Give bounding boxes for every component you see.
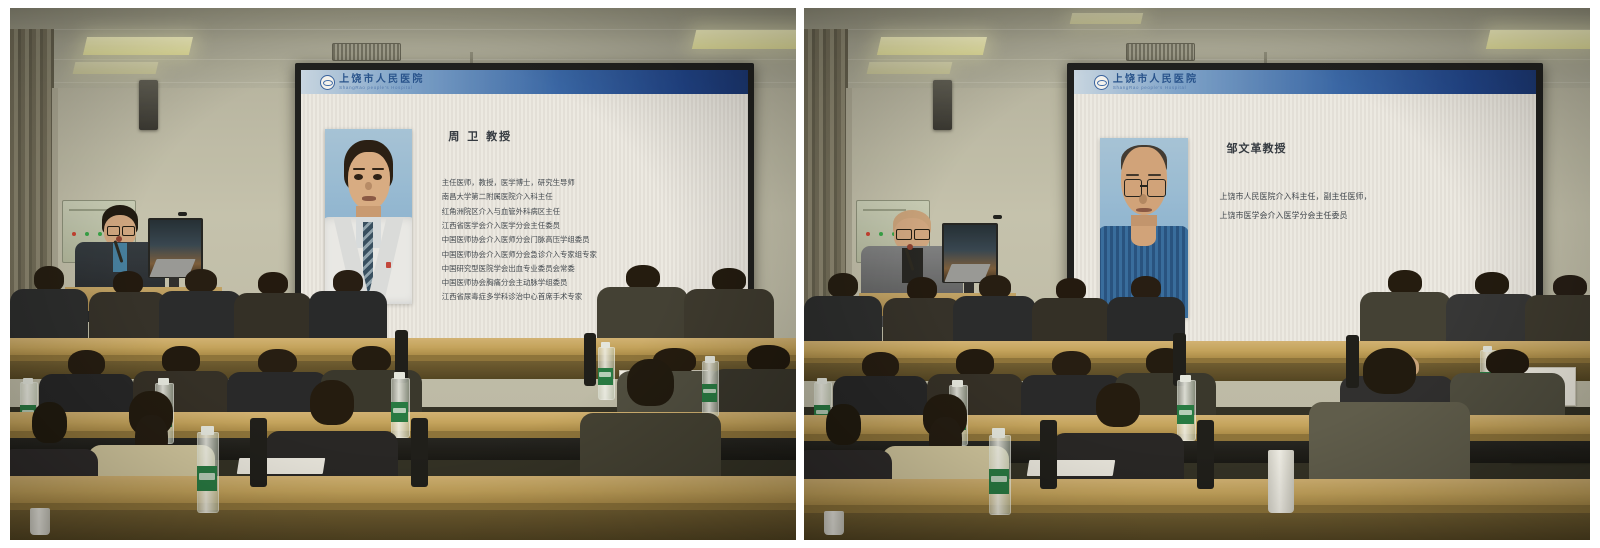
hospital-logo-text: 上饶市人民医院 ShangRao people's Hospital xyxy=(1113,75,1198,90)
desk-riser xyxy=(804,513,1590,540)
person-shoulders xyxy=(1032,298,1110,343)
wall-speaker xyxy=(933,80,952,131)
person-head xyxy=(258,349,297,376)
ceiling-light-panel xyxy=(877,37,987,55)
audience-person xyxy=(317,270,380,338)
portrait-mouth xyxy=(362,196,376,201)
lecture-hall-photo-left: 上饶市人民医院 ShangRao people's Hospital xyxy=(10,8,796,540)
audience-person xyxy=(812,273,875,343)
person-head xyxy=(68,350,105,377)
portrait-mouth xyxy=(1136,208,1152,212)
person-shoulders xyxy=(1525,295,1590,343)
slide-bullet: 主任医师，教授，医学博士，研究生导师 xyxy=(442,177,597,188)
ceiling-grid-line xyxy=(10,59,796,60)
hospital-name-en: ShangRao people's Hospital xyxy=(339,86,424,90)
water-bottle xyxy=(989,428,1009,513)
water-bottle xyxy=(391,372,408,436)
audience-person xyxy=(961,275,1028,343)
audience-person xyxy=(607,265,678,338)
audience-person xyxy=(1370,270,1441,343)
audience-desk-front xyxy=(10,476,796,503)
indicator-led xyxy=(72,232,76,236)
ceiling-grid-line xyxy=(10,29,796,30)
hospital-logo: 上饶市人民医院 ShangRao people's Hospital xyxy=(1094,75,1198,90)
person-shoulders xyxy=(234,293,312,338)
person-head xyxy=(34,266,64,292)
lecture-hall-photo-right: 上饶市人民医院 ShangRao people's Hospital xyxy=(804,8,1590,540)
person-head xyxy=(258,272,288,295)
audience-person xyxy=(1456,272,1527,343)
hospital-logo-text: 上饶市人民医院 ShangRao people's Hospital xyxy=(339,75,424,90)
bottle-label xyxy=(1177,405,1194,424)
audience-person xyxy=(242,272,305,338)
person-head xyxy=(1475,272,1509,296)
person-shoulders xyxy=(159,291,242,338)
slide-bullet-list: 上饶市人民医院介入科主任，副主任医师， 上饶市医学会介入医学分会主任委员 xyxy=(1220,191,1372,221)
hospital-logo: 上饶市人民医院 ShangRao people's Hospital xyxy=(320,75,424,90)
person-shoulders xyxy=(597,287,688,338)
portrait-collar-opening xyxy=(1131,226,1156,246)
bottle-label xyxy=(989,469,1009,494)
person-head xyxy=(626,265,660,290)
slide-bullet: 中国医师协会介入医师分会急诊介入专家组专家 xyxy=(442,249,597,260)
portrait-brow xyxy=(353,168,365,170)
person-head xyxy=(826,404,861,445)
person-shoulders xyxy=(1446,294,1537,344)
slide-bullet: 上饶市医学会介入医学分会主任委员 xyxy=(1220,210,1372,221)
person-head xyxy=(32,402,67,443)
person-shoulders xyxy=(89,292,167,338)
person-head xyxy=(162,346,199,374)
portrait-brow xyxy=(1126,174,1139,176)
person-head xyxy=(862,352,899,379)
hospital-name-cn: 上饶市人民医院 xyxy=(1113,75,1198,85)
slide-bullet: 中国医师协会介入医师分会门脉高压学组委员 xyxy=(442,234,597,245)
hospital-name-cn: 上饶市人民医院 xyxy=(339,75,424,85)
seat-armrest xyxy=(1197,420,1214,489)
portrait-eye xyxy=(373,174,382,180)
bottle-label xyxy=(391,402,408,421)
paper-cup xyxy=(30,508,50,535)
person-shoulders xyxy=(953,296,1036,343)
person-head xyxy=(1096,383,1140,427)
water-bottle xyxy=(197,426,217,511)
ceiling-grid-line xyxy=(804,29,1590,30)
audience-person xyxy=(1040,278,1103,343)
audience-person xyxy=(96,271,159,338)
microphone-foam-icon xyxy=(907,244,913,250)
person-shoulders xyxy=(1360,292,1451,343)
portrait-brow xyxy=(372,168,384,170)
slide-speaker-name: 周 卫 教授 xyxy=(448,128,512,144)
person-head xyxy=(828,273,858,298)
slide-bullet: 南昌大学第二附属医院介入科主任 xyxy=(442,191,597,202)
person-shoulders xyxy=(309,291,387,338)
audience-person xyxy=(18,266,81,337)
audience-person xyxy=(1114,276,1177,343)
audience-person xyxy=(1535,275,1590,344)
hospital-name-en: ShangRao people's Hospital xyxy=(1113,86,1198,90)
desk-edge xyxy=(10,503,796,510)
portrait-brow xyxy=(1148,174,1161,176)
seat-armrest xyxy=(411,418,428,487)
ceiling-light-panel xyxy=(83,37,193,55)
wall-speaker xyxy=(139,80,158,131)
ceiling-light-panel xyxy=(867,62,952,74)
audience-person xyxy=(725,345,796,423)
bottle-cap xyxy=(394,372,405,379)
ceiling-light-panel xyxy=(692,30,796,49)
person-head xyxy=(185,269,217,293)
thermos-cup xyxy=(1268,450,1295,514)
person-shoulders xyxy=(883,298,961,343)
person-head xyxy=(1486,349,1529,376)
portrait-glasses-bridge xyxy=(1140,185,1147,187)
webcam-icon xyxy=(178,212,187,216)
bottle-cap xyxy=(992,428,1005,437)
hospital-emblem-icon xyxy=(1094,75,1109,90)
bottle-cap xyxy=(201,426,214,435)
audience-person xyxy=(890,277,953,343)
ceiling-light-panel xyxy=(1486,30,1590,49)
person-shoulders xyxy=(684,289,775,338)
water-bottle xyxy=(1177,375,1194,439)
person-head xyxy=(352,346,391,374)
audience-row-back xyxy=(804,269,1590,343)
bottle-cap xyxy=(1180,375,1191,382)
portrait-eye xyxy=(354,174,363,180)
ceiling-grid-line xyxy=(804,59,1590,60)
seat-armrest xyxy=(250,418,267,487)
slide-bullet: 江西省医学会介入医学分会主任委员 xyxy=(442,220,597,231)
bottle-cap xyxy=(952,380,963,387)
slide-bullet: 红角洲院区介入与血管外科病区主任 xyxy=(442,206,597,217)
ceiling-vent-icon xyxy=(332,43,401,61)
audience-person xyxy=(167,269,234,338)
photo-pair-sheet: 上饶市人民医院 ShangRao people's Hospital xyxy=(0,0,1600,548)
slide-speaker-name: 邹文革教授 xyxy=(1226,140,1286,156)
person-head xyxy=(627,359,674,406)
bottle-cap xyxy=(158,378,169,385)
audience-person xyxy=(694,268,765,338)
portrait-glasses-icon xyxy=(1147,179,1166,197)
ceiling-light-panel xyxy=(73,62,158,74)
hospital-emblem-icon xyxy=(320,75,335,90)
audience-row-back xyxy=(10,263,796,337)
presenter-glasses-icon xyxy=(914,229,929,240)
slide-bullet: 上饶市人民医院介入科主任，副主任医师， xyxy=(1220,191,1372,202)
seat-armrest xyxy=(1040,420,1057,489)
person-head xyxy=(310,380,354,425)
presenter-glasses-icon xyxy=(122,226,135,236)
ceiling-vent-icon xyxy=(1126,43,1195,61)
person-head xyxy=(1052,351,1091,378)
bottle-label xyxy=(197,466,217,491)
indicator-led xyxy=(866,232,870,236)
person-head xyxy=(956,349,993,377)
presenter-glasses-icon xyxy=(107,226,120,236)
person-head xyxy=(1363,348,1416,394)
person-shoulders xyxy=(10,289,88,338)
desk-riser xyxy=(10,510,796,540)
person-shoulders xyxy=(804,296,882,344)
presenter-glasses-icon xyxy=(896,229,911,240)
paper-cup xyxy=(824,511,844,535)
ceiling-light-panel xyxy=(1070,13,1143,24)
desk-edge xyxy=(804,505,1590,512)
